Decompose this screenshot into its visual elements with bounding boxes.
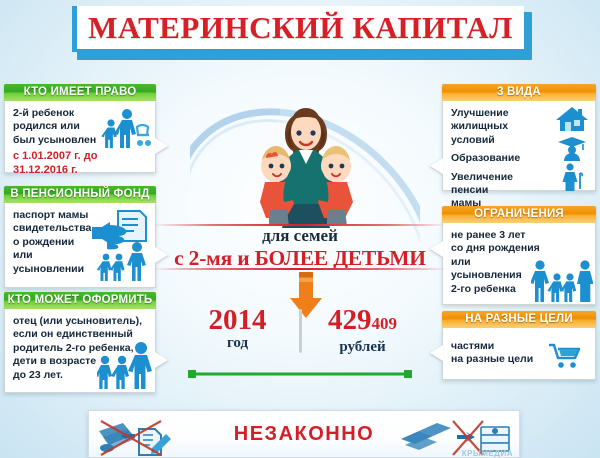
house-icon bbox=[554, 105, 590, 133]
shopping-cart-icon bbox=[547, 342, 583, 370]
elderly-woman-icon bbox=[557, 163, 587, 191]
card-pension-fund-documents: В ПЕНСИОННЫЙ ФОНД паспорт мамы свидетель… bbox=[4, 186, 156, 288]
card-header: В ПЕНСИОННЫЙ ФОНД bbox=[4, 186, 156, 203]
card-body: частями на разные цели bbox=[442, 328, 596, 380]
callout-tail bbox=[430, 345, 443, 361]
amount-figures: 2014 год 429409 рублей bbox=[185, 305, 415, 367]
card-header: НА РАЗНЫЕ ЦЕЛИ bbox=[442, 311, 596, 328]
year-value: 2014 bbox=[186, 305, 290, 335]
use-item-line: Образование bbox=[451, 152, 549, 165]
card-three-uses: 3 ВИДА ИСПОЛЬЗОВАНИЯ Улучшение жилищных … bbox=[442, 84, 596, 191]
card-various-purposes: НА РАЗНЫЕ ЦЕЛИ частями на разные цели bbox=[442, 311, 596, 380]
card-body: паспорт мамы свидетельства о рождении ил… bbox=[4, 203, 156, 288]
amount-main: 429 bbox=[328, 304, 372, 336]
father-children-icon bbox=[97, 340, 153, 390]
card-date-range: с 1.01.2007 г. до 31.12.2016 г. bbox=[13, 150, 147, 177]
watermark: КРЫМЕДИА bbox=[462, 449, 513, 458]
illegal-label: НЕЗАКОННО bbox=[234, 423, 374, 446]
hand-document-icon bbox=[90, 207, 152, 285]
card-header: ОГРАНИЧЕНИЯ bbox=[442, 206, 596, 223]
amount-figure: 429409 рублей bbox=[311, 305, 415, 356]
card-line: со дня рождения bbox=[451, 242, 587, 255]
title-banner: МАТЕРИНСКИЙ КАПИТАЛ bbox=[72, 6, 527, 56]
year-label: год bbox=[186, 335, 290, 352]
card-header: 3 ВИДА ИСПОЛЬЗОВАНИЯ bbox=[442, 84, 596, 101]
family-four-icon bbox=[531, 259, 593, 303]
mother-child-stroller-icon bbox=[91, 107, 151, 151]
green-bracket-rule bbox=[188, 370, 412, 378]
card-body: отец (или усыновитель), если он единстве… bbox=[4, 309, 156, 393]
title-box: МАТЕРИНСКИЙ КАПИТАЛ bbox=[72, 6, 524, 52]
card-line: не ранее 3 лет bbox=[451, 229, 587, 242]
amount-label: рублей bbox=[311, 339, 415, 356]
center-caption: для семей с 2-мя и БОЛЕЕ ДЕТЬМИ bbox=[150, 226, 450, 271]
caption-small: для семей bbox=[150, 226, 450, 246]
year-figure: 2014 год bbox=[186, 305, 290, 352]
callout-tail bbox=[155, 352, 168, 368]
callout-tail bbox=[155, 138, 168, 154]
card-who-can-apply: КТО МОЖЕТ ОФОРМИТЬ отец (или усыновитель… bbox=[4, 292, 156, 393]
mother-with-two-children-icon bbox=[236, 96, 376, 228]
figures-divider bbox=[299, 309, 302, 353]
card-body: 2-й ребенок родился или был усыновлен с … bbox=[4, 101, 156, 173]
infographic-root: МАТЕРИНСКИЙ КАПИТАЛ КТО ИМЕЕТ ПРАВО 2-й … bbox=[0, 0, 600, 458]
card-body: не ранее 3 лет со дня рождения или усыно… bbox=[442, 223, 596, 305]
use-item-line: жилищных условий bbox=[451, 120, 549, 147]
card-header: КТО ИМЕЕТ ПРАВО bbox=[4, 84, 156, 101]
page-title: МАТЕРИНСКИЙ КАПИТАЛ bbox=[88, 10, 513, 46]
card-body: Улучшение жилищных условий Образование У… bbox=[442, 101, 596, 191]
caption-rule-bottom bbox=[152, 268, 448, 270]
illegal-banner: НЕЗАКОННО КРЫМЕДИА bbox=[88, 410, 520, 458]
use-item-line: Улучшение bbox=[451, 107, 549, 120]
callout-tail bbox=[430, 158, 443, 174]
card-restrictions: ОГРАНИЧЕНИЯ не ранее 3 лет со дня рожден… bbox=[442, 206, 596, 305]
card-header: КТО МОЖЕТ ОФОРМИТЬ bbox=[4, 292, 156, 309]
cash-document-crossed-icon bbox=[95, 415, 203, 457]
amount-value: 429409 bbox=[311, 305, 415, 339]
card-line: отец (или усыновитель), bbox=[13, 315, 147, 328]
graduate-icon bbox=[555, 135, 589, 161]
use-item-line: Увеличение пенсии bbox=[451, 171, 549, 198]
card-who-is-eligible: КТО ИМЕЕТ ПРАВО 2-й ребенок родился или … bbox=[4, 84, 156, 173]
amount-sub: 409 bbox=[372, 314, 398, 333]
